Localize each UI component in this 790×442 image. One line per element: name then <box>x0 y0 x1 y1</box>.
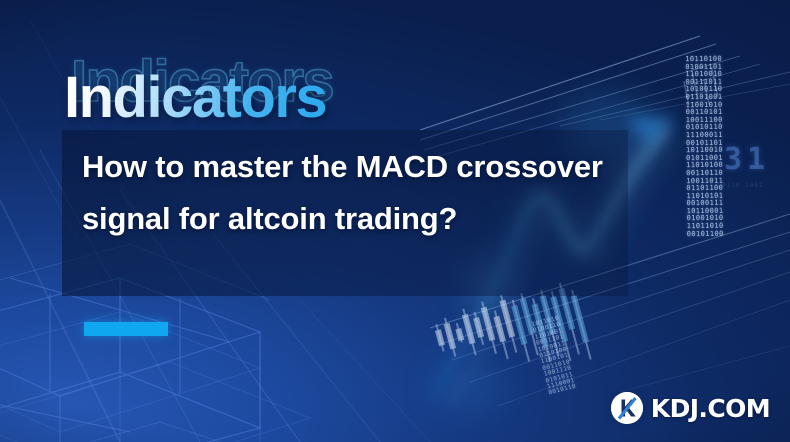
seven-segment-subtext: 0110 1001 <box>722 182 764 189</box>
article-hero-banner: 10110100 01001101 11010010 00111011 1010… <box>0 0 790 442</box>
category-title: Indicators <box>64 66 326 130</box>
accent-bar <box>84 322 168 336</box>
seven-segment-display: 31 <box>724 142 770 177</box>
article-headline: How to master the MACD crossover signal … <box>82 141 642 245</box>
binary-digits-top: 10110100 01001101 11010010 00111011 1010… <box>685 56 724 239</box>
site-logo[interactable]: KDJ.COM <box>611 392 770 424</box>
category-title-group: Indicators Indicators <box>64 66 326 132</box>
kdj-monogram-icon <box>611 392 643 424</box>
site-logo-text: KDJ.COM <box>651 394 770 423</box>
binary-digits-bottom: 1011010 0100110 1101001 0011101 1010011 … <box>531 316 577 397</box>
